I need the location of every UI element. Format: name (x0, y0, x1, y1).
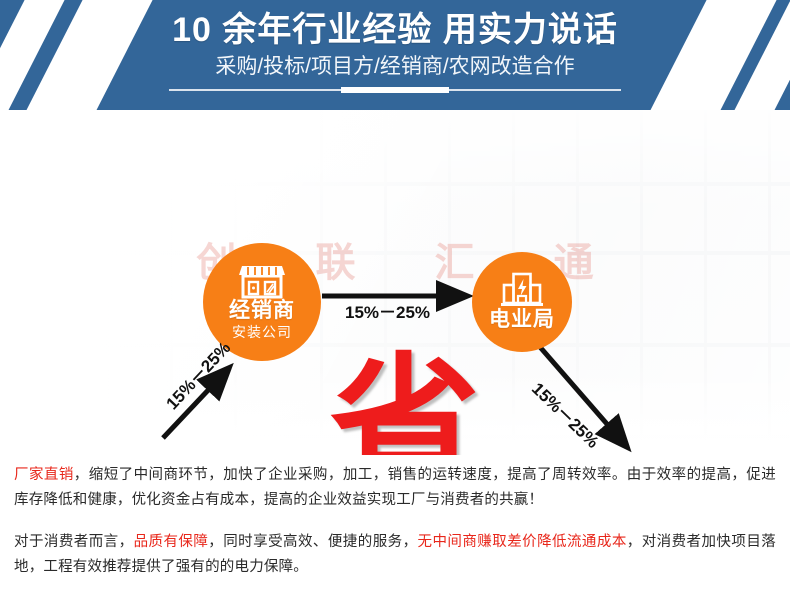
paragraph-two-mid: ，同时享受高效、便捷的服务， (208, 534, 417, 550)
paragraph-one-rest: ，缩短了中间商环节，加快了企业采购，加工，销售的运转速度，提高了周转效率。由于效… (14, 467, 776, 508)
node-bureau-label: 电业局 (489, 308, 555, 332)
banner-title: 10 余年行业经验 用实力说话 (172, 8, 618, 52)
power-building-icon (501, 272, 543, 308)
paragraph-two: 对于消费者而言，品质有保障，同时享受高效、便捷的服务，无中间商赚取差价降低流通成… (14, 530, 776, 580)
saving-character: 省 (330, 353, 475, 455)
paragraph-two-highlight-1: 品质有保障 (134, 534, 209, 550)
arrow-label-dealer-to-bureau: 15%－25% (345, 298, 430, 323)
node-dealer-label: 经销商 (229, 299, 295, 323)
paragraph-one-highlight: 厂家直销 (14, 467, 74, 483)
paragraph-one: 厂家直销，缩短了中间商环节，加快了企业采购，加工，销售的运转速度，提高了周转效率… (14, 463, 776, 513)
promo-page: 10 余年行业经验 用实力说话 采购/投标/项目方/经销商/农网改造合作 创 联… (0, 0, 790, 602)
paragraph-two-highlight-2: 无中间商赚取差价降低流通成本 (418, 534, 627, 550)
flow-diagram: 创 联 汇 通 省 (0, 110, 790, 455)
node-dealer-sublabel: 安装公司 (232, 323, 292, 341)
banner-subtitle: 采购/投标/项目方/经销商/农网改造合作 (215, 52, 574, 82)
banner-divider-center (341, 87, 449, 93)
node-bureau[interactable]: 电业局 (472, 252, 572, 352)
description-block: 厂家直销，缩短了中间商环节，加快了企业采购，加工，销售的运转速度，提高了周转效率… (0, 455, 790, 602)
banner-divider (169, 87, 621, 93)
shop-icon (239, 263, 285, 299)
header-banner: 10 余年行业经验 用实力说话 采购/投标/项目方/经销商/农网改造合作 (0, 0, 790, 110)
paragraph-two-lead: 对于消费者而言， (14, 534, 134, 550)
